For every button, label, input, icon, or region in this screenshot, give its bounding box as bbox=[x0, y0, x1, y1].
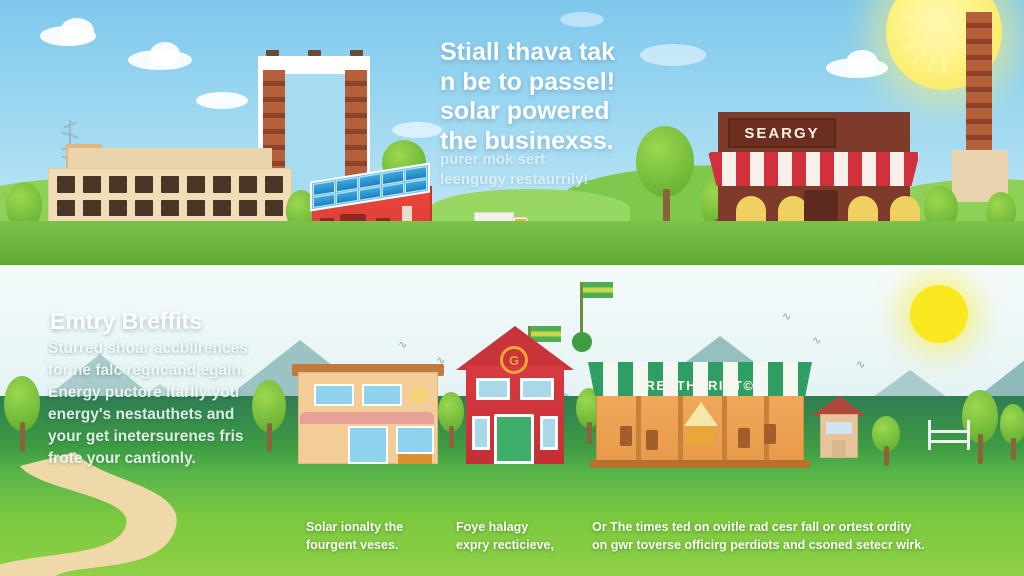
benefits-line: for ne falc regncand egain. bbox=[48, 360, 288, 382]
centerpiece bbox=[686, 428, 714, 444]
green-restaurant-base bbox=[590, 460, 810, 468]
headline: Stiall thava tak n be to passel! solar p… bbox=[440, 38, 740, 156]
small-house-roof bbox=[812, 396, 866, 416]
house-window bbox=[520, 378, 554, 400]
shop-awning bbox=[300, 412, 434, 424]
chair-icon bbox=[764, 424, 776, 444]
caption-line: Or The times ted on ovitle rad cesr fall… bbox=[592, 518, 992, 536]
lamp-icon bbox=[684, 402, 718, 426]
chair-icon bbox=[620, 426, 632, 446]
shop-window bbox=[314, 384, 354, 406]
restaurant-column bbox=[636, 394, 641, 462]
bird-icon: ∿ bbox=[812, 334, 821, 347]
benefits-line: frote your cantionly. bbox=[48, 448, 288, 470]
benefits-body: Sturred shoar accbllrences for ne falc r… bbox=[48, 338, 288, 470]
caption-line: fourgent veses. bbox=[306, 536, 446, 554]
caption-right: Or The times ted on ovitle rad cesr fall… bbox=[592, 518, 992, 554]
house-window bbox=[540, 416, 558, 450]
headline-line: n be to passel! bbox=[440, 68, 740, 98]
caption-line: Solar ionalty the bbox=[306, 518, 446, 536]
small-house-window bbox=[826, 422, 852, 434]
shop-door[interactable] bbox=[348, 426, 388, 464]
house-window bbox=[476, 378, 510, 400]
shop-display-window bbox=[396, 426, 434, 454]
cloud-icon bbox=[560, 12, 604, 27]
headline-line: Stiall thava tak bbox=[440, 38, 740, 68]
caption-left: Solar ionalty the fourgent veses. bbox=[306, 518, 446, 554]
green-restaurant-sign: RESTHURIAT© bbox=[596, 378, 804, 393]
beam-fixture bbox=[266, 50, 279, 56]
bird-icon: ∿ bbox=[398, 338, 407, 351]
chair-icon bbox=[738, 428, 750, 448]
cloud-icon bbox=[846, 50, 878, 74]
bird-icon: ∿ bbox=[782, 310, 791, 323]
benefits-title: Emtry Breffits bbox=[50, 308, 202, 335]
cloud-icon bbox=[196, 92, 248, 109]
caption-line: Foye halagy bbox=[456, 518, 586, 536]
house-window bbox=[472, 416, 490, 450]
restaurant-sign: SEARGY bbox=[728, 118, 836, 148]
benefits-line: Energy puctore Itarlly you bbox=[48, 382, 288, 404]
restaurant-column bbox=[722, 394, 727, 462]
subheadline: purer mok sert leengugy restaurrily! bbox=[440, 150, 740, 191]
tree-icon bbox=[1000, 404, 1024, 460]
caption-line: expry recticieve, bbox=[456, 536, 586, 554]
restaurant-sign-text: SEARGY bbox=[744, 125, 819, 142]
benefits-line: energy's nestauthets and bbox=[48, 404, 288, 426]
flag-finial bbox=[572, 332, 592, 352]
shop-clock-icon bbox=[410, 386, 428, 404]
top-scene: SEARGY Stiall thava tak n be to passel! … bbox=[0, 0, 1024, 265]
bottom-scene: ∿ ∿ ∿ ∿ ∿ bbox=[0, 268, 1024, 576]
top-ground bbox=[0, 221, 1024, 265]
subheadline-line: leengugy restaurrily! bbox=[440, 170, 740, 190]
office-rooftop bbox=[68, 148, 272, 170]
winding-path bbox=[0, 452, 290, 576]
small-house-door bbox=[832, 440, 846, 458]
benefits-line: Sturred shoar accbllrences bbox=[48, 338, 288, 360]
restaurant-column bbox=[678, 394, 683, 462]
house-door[interactable] bbox=[494, 414, 534, 464]
shop-window bbox=[362, 384, 402, 406]
benefits-line: your get inetersurenes fris bbox=[48, 426, 288, 448]
caption-middle: Foye halagy expry recticieve, bbox=[456, 518, 586, 554]
tree-icon bbox=[4, 376, 40, 452]
beam-fixture bbox=[350, 50, 363, 56]
subheadline-line: purer mok sert bbox=[440, 150, 740, 170]
cloud-icon bbox=[392, 122, 442, 138]
chair-icon bbox=[646, 430, 658, 450]
infographic-canvas: SEARGY Stiall thava tak n be to passel! … bbox=[0, 0, 1024, 576]
tree-icon bbox=[438, 392, 464, 448]
headline-line: solar powered bbox=[440, 97, 740, 127]
house-emblem: G bbox=[500, 346, 528, 374]
bird-icon: ∿ bbox=[856, 358, 865, 371]
gate-icon bbox=[928, 420, 970, 450]
shop-produce-stand bbox=[398, 454, 432, 464]
caption-line: on gwr toverse officirg perdiots and cso… bbox=[592, 536, 992, 554]
sun-icon bbox=[910, 285, 968, 343]
beam-fixture bbox=[308, 50, 321, 56]
cloud-icon bbox=[60, 18, 94, 44]
tree-icon bbox=[872, 416, 900, 466]
smokestack bbox=[966, 12, 992, 162]
factory-beam bbox=[258, 56, 370, 66]
cloud-icon bbox=[150, 42, 180, 66]
